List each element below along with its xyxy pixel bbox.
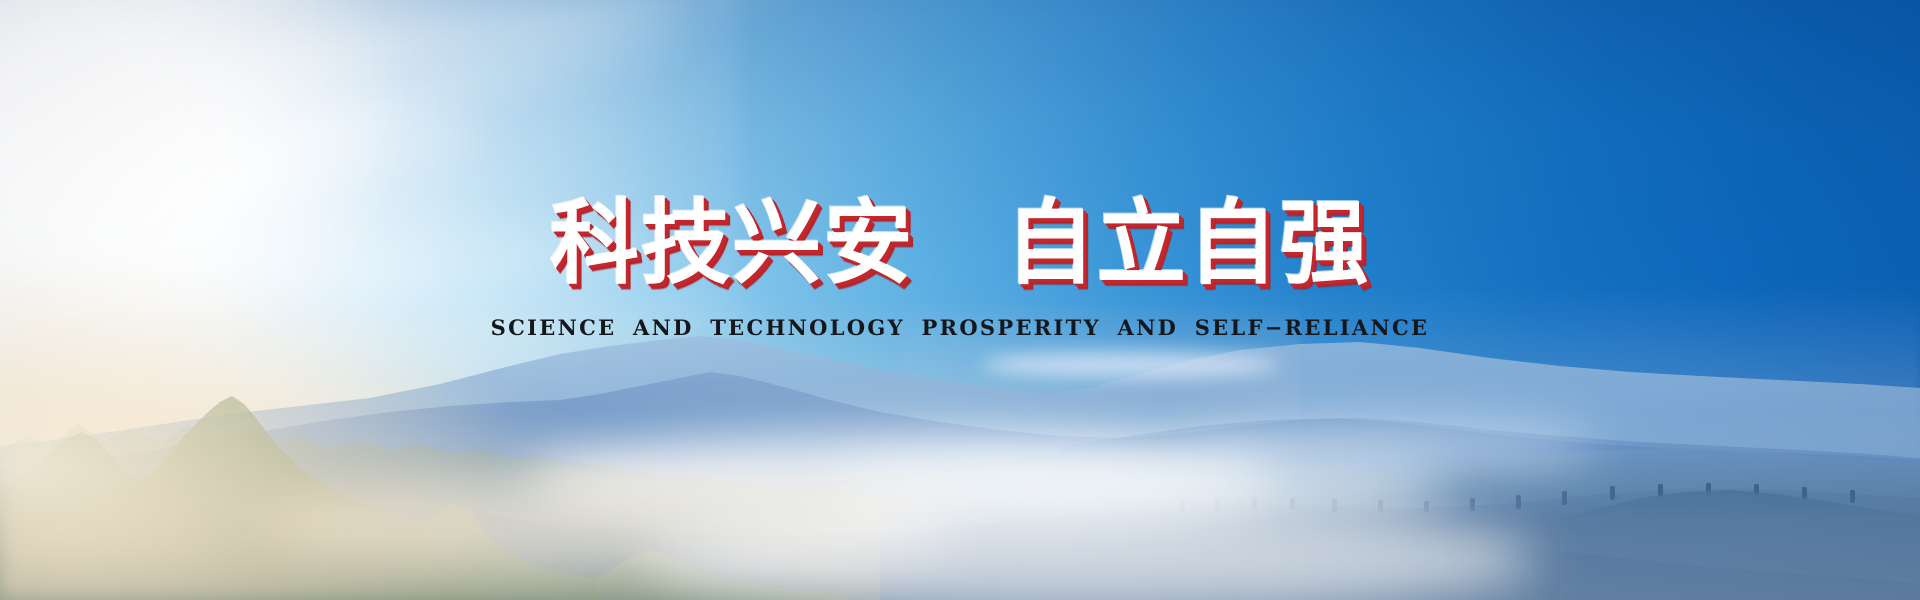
cloud-wisp xyxy=(980,352,1280,378)
page-subtitle: SCIENCE AND TECHNOLOGY PROSPERITY AND SE… xyxy=(0,315,1920,340)
headline-block: 科技兴安 自立自强 SCIENCE AND TECHNOLOGY PROSPER… xyxy=(0,196,1920,340)
hero-banner: 科技兴安 自立自强 SCIENCE AND TECHNOLOGY PROSPER… xyxy=(0,0,1920,600)
page-title: 科技兴安 自立自强 xyxy=(550,196,1371,293)
